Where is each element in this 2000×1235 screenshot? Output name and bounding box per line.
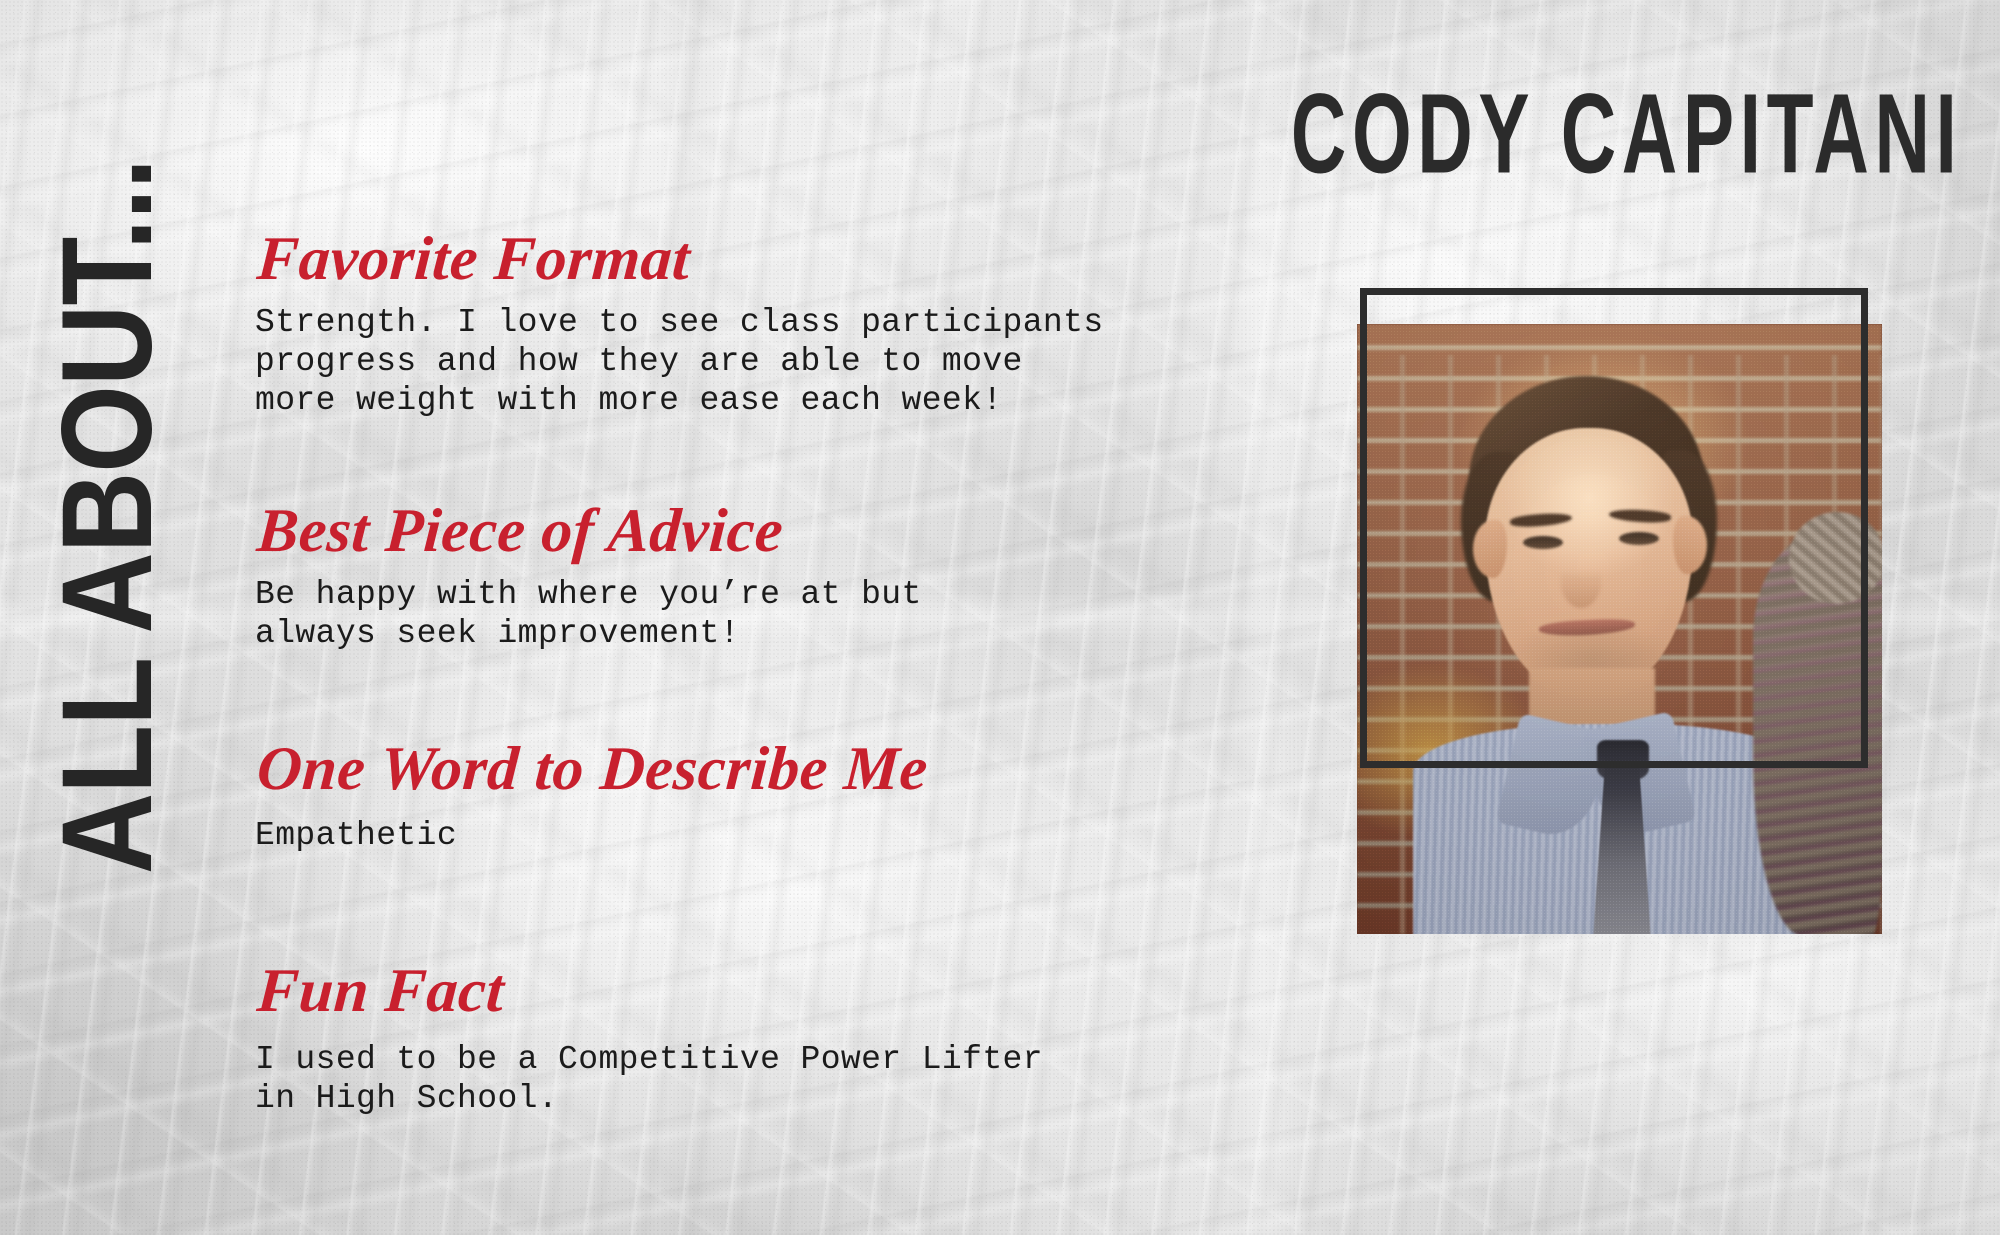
qa-body-favorite-format: Strength. I love to see class participan… — [255, 304, 1104, 421]
qa-heading-fun-fact: Fun Fact — [255, 960, 1047, 1023]
qa-body-fun-fact: I used to be a Competitive Power Lifter … — [255, 1041, 1043, 1119]
slide-canvas: ALL ABOUT... CODY CAPITANI Favorite Form… — [0, 0, 2000, 1235]
qa-body-one-word-to-describe-me: Empathetic — [255, 817, 926, 856]
qa-block-favorite-format: Favorite Format Strength. I love to see … — [255, 228, 1104, 421]
portrait-photo-group — [1360, 288, 1900, 948]
vertical-all-about-title: ALL ABOUT... — [33, 90, 183, 890]
qa-body-best-piece-of-advice: Be happy with where you’re at but always… — [255, 576, 922, 654]
page-title: CODY CAPITANI — [1290, 78, 1962, 191]
qa-block-best-piece-of-advice: Best Piece of Advice Be happy with where… — [255, 500, 922, 654]
vertical-title-text: ALL ABOUT... — [44, 159, 172, 890]
qa-heading-one-word-to-describe-me: One Word to Describe Me — [255, 738, 930, 801]
photo-outline-frame — [1360, 288, 1868, 768]
qa-heading-best-piece-of-advice: Best Piece of Advice — [255, 500, 926, 563]
qa-heading-favorite-format: Favorite Format — [255, 228, 1108, 291]
qa-block-one-word-to-describe-me: One Word to Describe Me Empathetic — [255, 738, 926, 856]
qa-block-fun-fact: Fun Fact I used to be a Competitive Powe… — [255, 960, 1043, 1119]
